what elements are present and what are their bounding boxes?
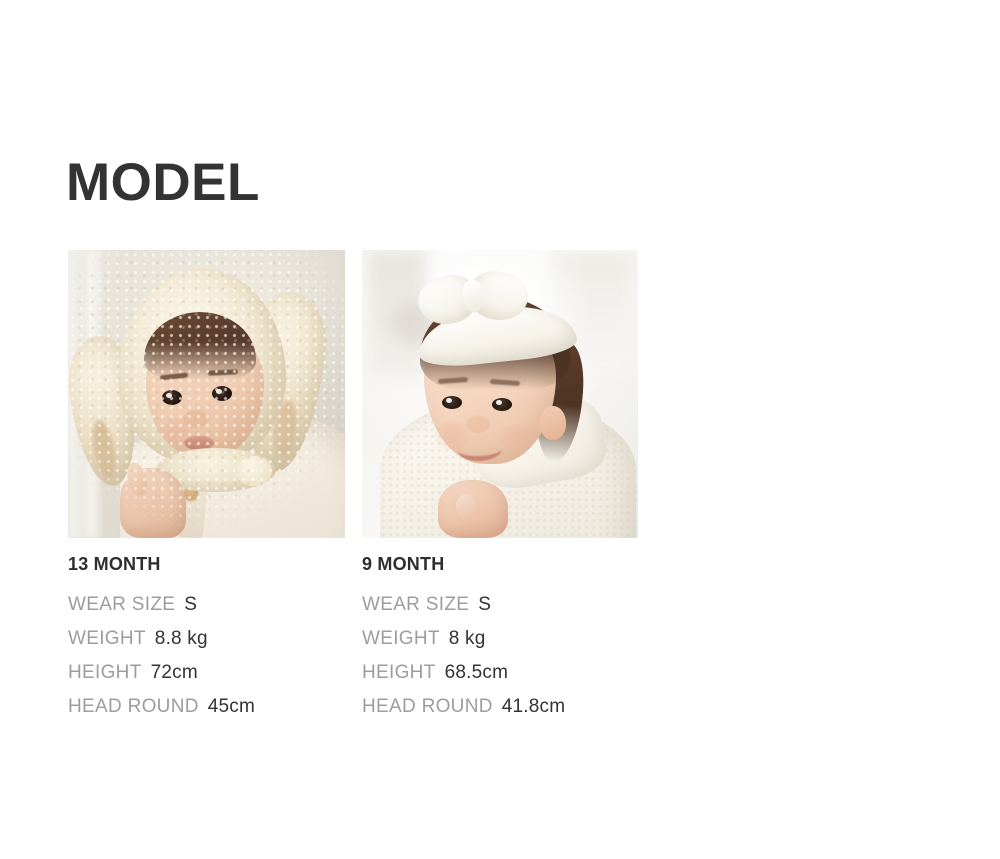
spec-value: S bbox=[478, 594, 491, 615]
spec-value: S bbox=[184, 594, 197, 615]
spec-value: 68.5cm bbox=[445, 662, 509, 683]
spec-label: WEIGHT bbox=[68, 628, 146, 649]
model-section-page: MODEL bbox=[0, 0, 1000, 859]
spec-label: HEIGHT bbox=[362, 662, 436, 683]
model-age-heading: 13 MONTH bbox=[68, 554, 345, 576]
spec-row-wear-size: WEAR SIZES bbox=[68, 588, 345, 622]
spec-value: 45cm bbox=[208, 696, 255, 717]
model-card-13-month: 13 MONTH WEAR SIZES WEIGHT8.8 kg HEIGHT7… bbox=[68, 250, 345, 724]
model-card-9-month: 9 MONTH WEAR SIZES WEIGHT8 kg HEIGHT68.5… bbox=[362, 250, 638, 724]
spec-label: HEAD ROUND bbox=[68, 696, 199, 717]
baby-ear bbox=[540, 406, 566, 440]
bonnet-fluff-texture bbox=[68, 250, 345, 538]
bow-knot bbox=[461, 279, 485, 312]
spec-row-weight: WEIGHT8.8 kg bbox=[68, 622, 345, 656]
spec-row-height: HEIGHT68.5cm bbox=[362, 656, 638, 690]
spec-row-wear-size: WEAR SIZES bbox=[362, 588, 638, 622]
model-cards-row: 13 MONTH WEAR SIZES WEIGHT8.8 kg HEIGHT7… bbox=[68, 250, 648, 724]
spec-value: 72cm bbox=[151, 662, 198, 683]
baby-finger bbox=[456, 494, 476, 518]
cheek-blush-right bbox=[498, 424, 532, 450]
spec-row-height: HEIGHT72cm bbox=[68, 656, 345, 690]
spec-value: 8.8 kg bbox=[155, 628, 208, 649]
model-photo-bow-headband-baby bbox=[362, 250, 638, 538]
eye-right bbox=[492, 398, 512, 411]
eye-left bbox=[442, 396, 462, 409]
spec-label: WEAR SIZE bbox=[68, 594, 175, 615]
model-photo-bunny-bonnet-baby bbox=[68, 250, 345, 538]
spec-label: HEAD ROUND bbox=[362, 696, 493, 717]
page-title: MODEL bbox=[66, 154, 260, 212]
spec-value: 41.8cm bbox=[502, 696, 566, 717]
model-spec-list: WEAR SIZES WEIGHT8.8 kg HEIGHT72cm HEAD … bbox=[68, 588, 345, 724]
spec-value: 8 kg bbox=[449, 628, 486, 649]
spec-label: WEIGHT bbox=[362, 628, 440, 649]
spec-label: WEAR SIZE bbox=[362, 594, 469, 615]
nose bbox=[466, 416, 490, 433]
spec-row-head-round: HEAD ROUND41.8cm bbox=[362, 690, 638, 724]
spec-label: HEIGHT bbox=[68, 662, 142, 683]
spec-row-weight: WEIGHT8 kg bbox=[362, 622, 638, 656]
spec-row-head-round: HEAD ROUND45cm bbox=[68, 690, 345, 724]
model-spec-list: WEAR SIZES WEIGHT8 kg HEIGHT68.5cm HEAD … bbox=[362, 588, 638, 724]
model-age-heading: 9 MONTH bbox=[362, 554, 638, 576]
